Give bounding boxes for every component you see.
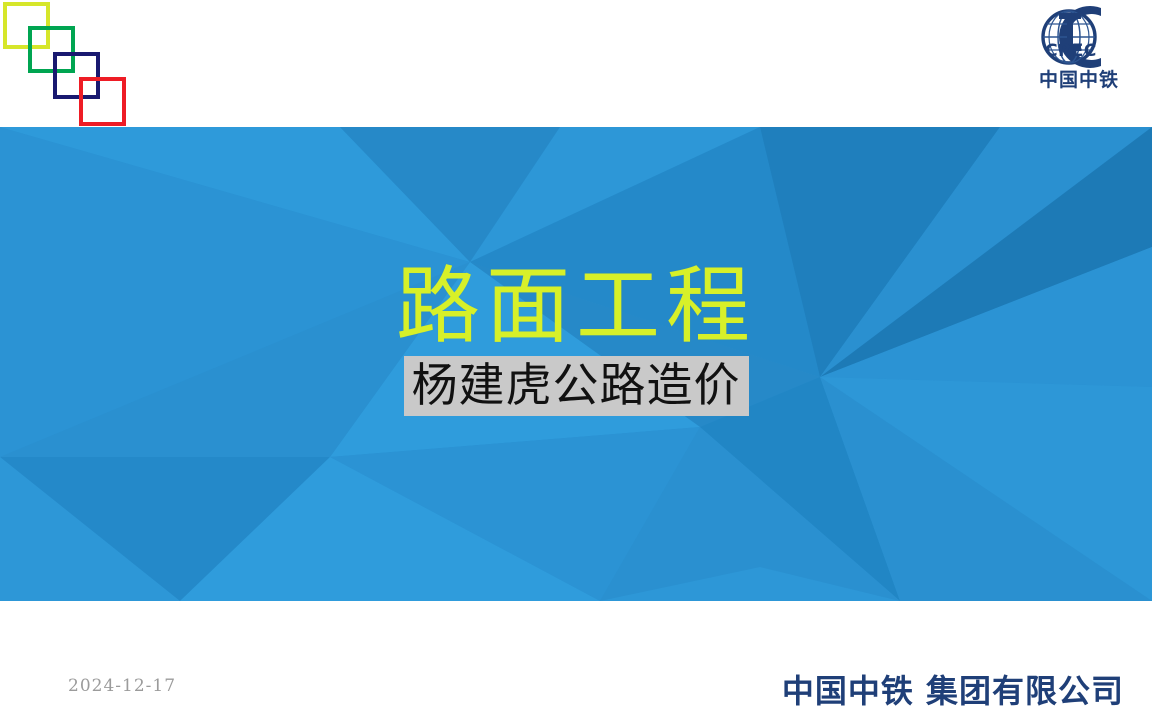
crec-logo: CREC 中国中铁 bbox=[1022, 4, 1136, 96]
red-square-icon bbox=[79, 77, 126, 126]
logo-wordmark: 中国中铁 bbox=[1039, 71, 1119, 90]
footer-company-name: 中国中铁 集团有限公司 bbox=[782, 666, 1124, 712]
decorative-squares-group bbox=[0, 0, 150, 135]
svg-text:CREC: CREC bbox=[1045, 41, 1097, 61]
presentation-title-slide: CREC 中国中铁 bbox=[0, 0, 1152, 720]
title-banner bbox=[0, 127, 1152, 601]
crec-globe-rail-logo-icon: CREC bbox=[1031, 4, 1127, 70]
footer-date: 2024-12-17 bbox=[68, 676, 176, 696]
low-poly-background-pattern bbox=[0, 127, 1152, 601]
